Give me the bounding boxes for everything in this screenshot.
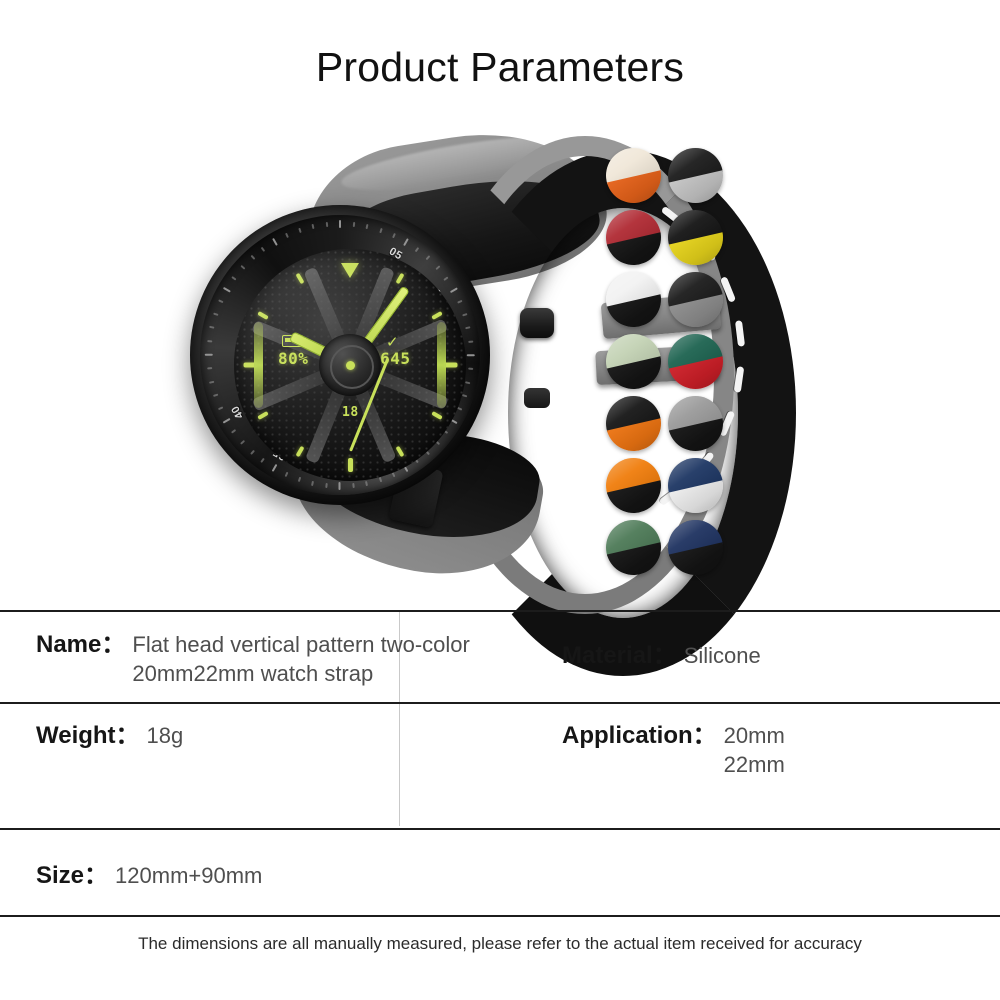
bezel-tick (285, 233, 288, 238)
table-rule-3 (0, 915, 1000, 917)
color-swatch-green-black[interactable] (606, 520, 661, 575)
dial-right-arc-gauge (437, 322, 446, 408)
watch-product-photo: 0510152025303540 80% ✓ 7645 (150, 130, 620, 580)
param-name: Name： Flat head vertical pattern two-col… (36, 630, 536, 688)
swatch-gloss (606, 396, 661, 451)
bezel-tick (379, 228, 382, 233)
bezel-tick (468, 368, 473, 370)
param-name-value-line1: Flat head vertical pattern two-color (132, 632, 470, 657)
color-swatch-navy-white[interactable] (668, 458, 723, 513)
bezel-tick (207, 340, 212, 342)
param-material: Material： Silicone (562, 641, 982, 671)
param-size: Size： 120mm+90mm (36, 861, 536, 891)
bezel-tick (272, 238, 277, 246)
color-swatch-red-black[interactable] (606, 210, 661, 265)
table-column-divider-2 (399, 704, 400, 826)
product-parameters-page: Product Parameters 0510152025303540 (0, 0, 1000, 1000)
bezel-tick (298, 477, 301, 482)
watch-case: 0510152025303540 80% ✓ 7645 (190, 205, 490, 505)
bezel-tick (240, 265, 245, 269)
swatch-gloss (606, 520, 661, 575)
swatch-gloss (606, 210, 661, 265)
param-size-value: 120mm+90mm (115, 861, 262, 890)
bezel-tick (250, 450, 254, 455)
bezel-tick (435, 265, 440, 269)
bezel-tick (261, 247, 265, 252)
bezel-tick (311, 481, 314, 486)
bezel-tick (209, 381, 214, 384)
param-application: Application： 20mm 22mm (562, 721, 982, 779)
color-swatch-white-black[interactable] (606, 272, 661, 327)
swatch-gloss (668, 520, 723, 575)
bezel-tick (353, 222, 355, 227)
bezel-tick (240, 440, 245, 444)
watch-pusher (524, 388, 550, 408)
table-rule-1 (0, 702, 1000, 704)
bezel-tick (205, 354, 213, 356)
watch-dial: 80% ✓ 7645 18 (234, 249, 466, 481)
table-rule-2 (0, 828, 1000, 830)
bezel-tick (339, 220, 341, 228)
bezel-tick (272, 465, 277, 473)
watch-bezel: 0510152025303540 80% ✓ 7645 (200, 215, 480, 495)
dial-left-arc-gauge (254, 322, 263, 408)
bezel-tick (466, 381, 471, 384)
swatch-gloss (668, 210, 723, 265)
swatch-gloss (668, 396, 723, 451)
product-hero-image: 0510152025303540 80% ✓ 7645 (0, 120, 1000, 590)
bezel-tick (325, 222, 327, 227)
bezel-tick (392, 233, 395, 238)
bezel-tick (457, 300, 462, 303)
param-application-value: 20mm 22mm (724, 721, 785, 779)
bezel-tick (425, 255, 429, 260)
bezel-tick (325, 483, 327, 488)
bezel-tick (462, 394, 467, 397)
bezel-tick (353, 483, 355, 488)
bezel-tick (223, 418, 231, 423)
page-title: Product Parameters (0, 44, 1000, 91)
param-application-value-line2: 22mm (724, 750, 785, 779)
param-application-label: Application： (562, 721, 717, 751)
bezel-tick (339, 482, 341, 490)
swatch-gloss (668, 458, 723, 513)
bezel-tick (223, 287, 231, 292)
param-material-value: Silicone (684, 641, 761, 670)
dial-center-pin (346, 361, 355, 370)
color-swatch-sage-black[interactable] (606, 334, 661, 389)
bezel-tick (209, 326, 214, 329)
swatch-gloss (668, 272, 723, 327)
bezel-tick (366, 481, 369, 486)
bezel-tick (403, 238, 408, 246)
bezel-tick (450, 287, 458, 292)
color-swatch-green-red[interactable] (668, 334, 723, 389)
bezel-tick (298, 228, 301, 233)
param-name-label: Name： (36, 630, 125, 660)
swatch-gloss (668, 334, 723, 389)
param-name-value-line2: 20mm22mm watch strap (132, 659, 470, 688)
color-swatch-navy-black[interactable] (668, 520, 723, 575)
table-rule-top (0, 610, 1000, 612)
color-swatch-orange-beige[interactable] (606, 148, 661, 203)
bezel-tick (466, 326, 471, 329)
bezel-tick (250, 255, 254, 260)
color-swatch-grey-black[interactable] (668, 396, 723, 451)
param-weight: Weight： 18g (36, 721, 376, 751)
bezel-tick (218, 300, 223, 303)
param-application-value-line1: 20mm (724, 723, 785, 748)
param-size-label: Size： (36, 861, 108, 891)
bezel-tick (468, 340, 473, 342)
swatch-gloss (606, 148, 661, 203)
bezel-tick (467, 354, 475, 356)
color-swatch-black-yellow[interactable] (668, 210, 723, 265)
color-swatch-black-orange[interactable] (606, 396, 661, 451)
color-swatch-black-silver[interactable] (668, 148, 723, 203)
color-swatch-grid (606, 148, 756, 568)
swatch-gloss (606, 458, 661, 513)
swatch-gloss (668, 148, 723, 203)
bezel-tick (261, 459, 265, 464)
swatch-gloss (606, 334, 661, 389)
bezel-tick (232, 276, 237, 280)
watch-crown (520, 308, 554, 338)
bezel-tick (285, 472, 288, 477)
swatch-gloss (606, 272, 661, 327)
param-name-value: Flat head vertical pattern two-color 20m… (132, 630, 470, 688)
param-weight-label: Weight： (36, 721, 140, 751)
color-swatch-black-grey[interactable] (668, 272, 723, 327)
bezel-tick (213, 313, 218, 316)
param-material-label: Material： (562, 641, 677, 671)
dial-twelve-marker (341, 263, 359, 278)
bezel-tick (444, 276, 449, 280)
bezel-tick (462, 313, 467, 316)
date-readout: 18 (342, 405, 359, 420)
param-weight-value: 18g (147, 721, 184, 750)
bezel-tick (232, 430, 237, 434)
bezel-tick (311, 224, 314, 229)
battery-percent-readout: 80% (278, 349, 308, 368)
dial-index (348, 458, 353, 472)
bezel-tick (366, 224, 369, 229)
bezel-tick (415, 247, 419, 252)
bezel-tick (379, 477, 382, 482)
bezel-tick (213, 394, 218, 397)
bezel-tick (207, 368, 212, 370)
bezel-tick (218, 407, 223, 410)
color-swatch-orange-black[interactable] (606, 458, 661, 513)
measurement-disclaimer: The dimensions are all manually measured… (0, 934, 1000, 954)
